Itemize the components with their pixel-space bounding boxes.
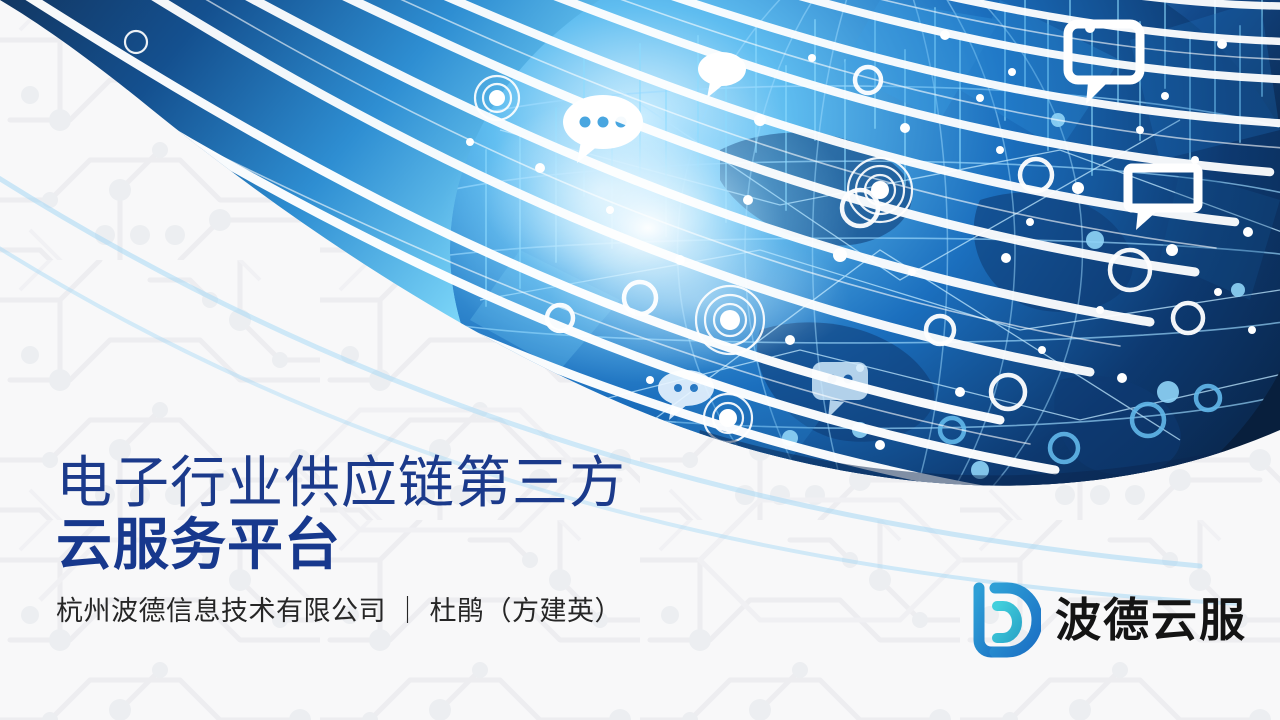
page-title-line-1: 电子行业供应链第三方: [56, 452, 626, 515]
logo-wordmark: 波德云服: [1055, 597, 1247, 643]
page-title-line-2: 云服务平台: [56, 513, 626, 577]
presenter-subtitle: 杭州波德信息技术有限公司 ｜ 杜鹃（方建英）: [56, 595, 626, 627]
title-block: 电子行业供应链第三方 云服务平台 杭州波德信息技术有限公司 ｜ 杜鹃（方建英）: [56, 452, 626, 627]
presentation-slide: 电子行业供应链第三方 云服务平台 杭州波德信息技术有限公司 ｜ 杜鹃（方建英）: [0, 0, 1280, 720]
bd-monogram-icon: [963, 582, 1041, 658]
company-logo: 波德云服: [963, 582, 1247, 658]
